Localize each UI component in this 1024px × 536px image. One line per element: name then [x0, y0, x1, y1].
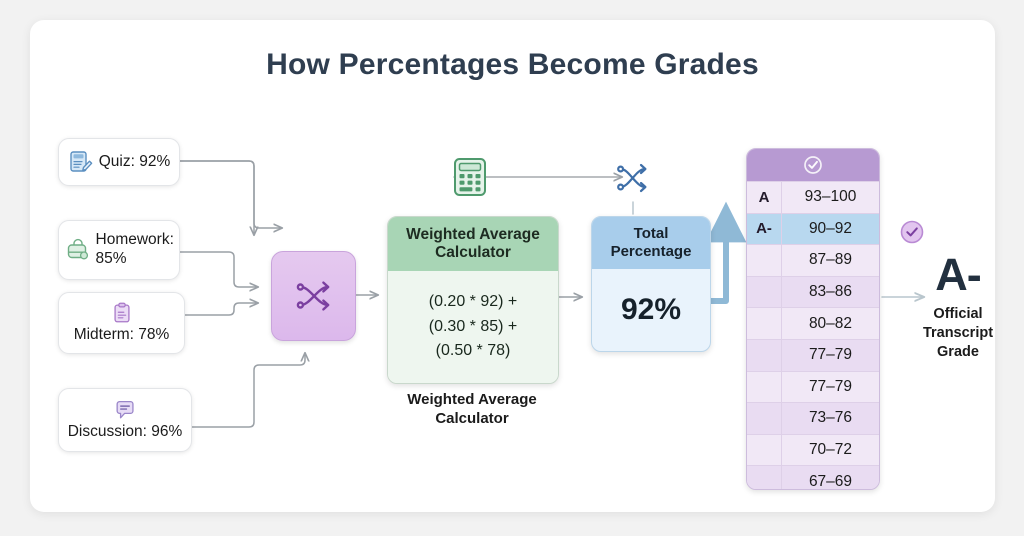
grade-range-cell: 77–79 [782, 340, 879, 371]
calculator-icon [450, 156, 490, 198]
merge-node[interactable] [271, 251, 356, 341]
backpack-icon [65, 237, 91, 263]
grade-table-row[interactable]: 77–79 [747, 371, 879, 403]
grade-letter-cell: A- [747, 214, 782, 245]
grade-table-body: A93–100A-90–9287–8983–8680–8277–7977–797… [747, 181, 879, 490]
grade-table-row[interactable]: 77–79 [747, 339, 879, 371]
grade-letter-cell [747, 372, 782, 403]
total-heading-line1: Total [634, 225, 669, 243]
input-card-midterm[interactable]: Midterm: 78% [58, 292, 185, 354]
grade-table-row[interactable]: 73–76 [747, 402, 879, 434]
grade-letter-cell [747, 466, 782, 490]
grade-letter-cell [747, 277, 782, 308]
check-circle-icon [802, 154, 824, 176]
grade-range-cell: 87–89 [782, 245, 879, 276]
calculator-formula: (0.20 * 92) + (0.30 * 85) + (0.50 * 78) [388, 271, 558, 383]
grade-table-header [747, 149, 879, 181]
quiz-paper-icon [68, 149, 94, 175]
grade-range-cell: 73–76 [782, 403, 879, 434]
formula-line-2: (0.30 * 85) + [429, 315, 518, 340]
grade-table-row[interactable]: 80–82 [747, 307, 879, 339]
calculator-caption-line2: Calculator [367, 410, 577, 429]
grade-range-cell: 90–92 [782, 214, 879, 245]
input-label-quiz: Quiz: 92% [99, 153, 171, 172]
calculator-card-header: Weighted Average Calculator [388, 217, 558, 271]
grade-letter-cell [747, 435, 782, 466]
grade-scale-table[interactable]: A93–100A-90–9287–8983–8680–8277–7977–797… [746, 148, 880, 490]
calculator-heading-line1: Weighted Average [406, 226, 540, 244]
grade-range-cell: 83–86 [782, 277, 879, 308]
input-label-midterm: Midterm: 78% [74, 326, 170, 345]
total-percentage-header: Total Percentage [592, 217, 710, 269]
total-percentage-card[interactable]: Total Percentage 92% [591, 216, 711, 352]
grade-letter-cell: A [747, 182, 782, 213]
input-card-quiz[interactable]: Quiz: 92% [58, 138, 180, 186]
grade-letter-cell [747, 403, 782, 434]
shuffle-icon [615, 159, 653, 199]
formula-line-1: (0.20 * 92) + [429, 290, 518, 315]
calculator-heading-line2: Calculator [435, 244, 511, 262]
grade-letter-cell [747, 340, 782, 371]
grade-table-row[interactable]: 83–86 [747, 276, 879, 308]
grade-table-row[interactable]: A-90–92 [747, 213, 879, 245]
final-caption-line1: Official [898, 305, 1018, 324]
input-label-discussion: Discussion: 96% [68, 423, 183, 442]
grade-table-row[interactable]: 67–69 [747, 465, 879, 490]
grade-range-cell: 70–72 [782, 435, 879, 466]
final-badge [898, 218, 1018, 246]
final-grade-value: A- [898, 252, 1018, 297]
grade-range-cell: 93–100 [782, 182, 879, 213]
calculator-caption: Weighted Average Calculator [367, 391, 577, 429]
official-grade-block: A- Official Transcript Grade [898, 218, 1018, 362]
weighted-average-calculator-card[interactable]: Weighted Average Calculator (0.20 * 92) … [387, 216, 559, 384]
grade-range-cell: 67–69 [782, 466, 879, 490]
input-card-homework[interactable]: Homework: 85% [58, 220, 180, 280]
total-heading-line2: Percentage [611, 243, 692, 261]
chat-bubble-icon [113, 398, 137, 422]
input-card-discussion[interactable]: Discussion: 96% [58, 388, 192, 452]
grade-table-row[interactable]: 70–72 [747, 434, 879, 466]
grade-range-cell: 80–82 [782, 308, 879, 339]
final-grade-caption: Official Transcript Grade [898, 305, 1018, 362]
input-label-homework: Homework: 85% [96, 231, 174, 268]
grade-letter-cell [747, 245, 782, 276]
clipboard-icon [110, 301, 134, 325]
grade-table-row[interactable]: A93–100 [747, 181, 879, 213]
grade-range-cell: 77–79 [782, 372, 879, 403]
final-caption-line2: Transcript [898, 324, 1018, 343]
calculator-caption-line1: Weighted Average [367, 391, 577, 410]
total-percentage-value: 92% [592, 269, 710, 351]
grade-letter-cell [747, 308, 782, 339]
final-caption-line3: Grade [898, 343, 1018, 362]
shuffle-merge-icon [291, 273, 337, 319]
page-title: How Percentages Become Grades [30, 48, 995, 82]
grade-table-row[interactable]: 87–89 [747, 244, 879, 276]
check-circle-icon [898, 218, 926, 246]
infographic-card: How Percentages Become Grades [30, 20, 995, 512]
formula-line-3: (0.50 * 78) [436, 339, 511, 364]
